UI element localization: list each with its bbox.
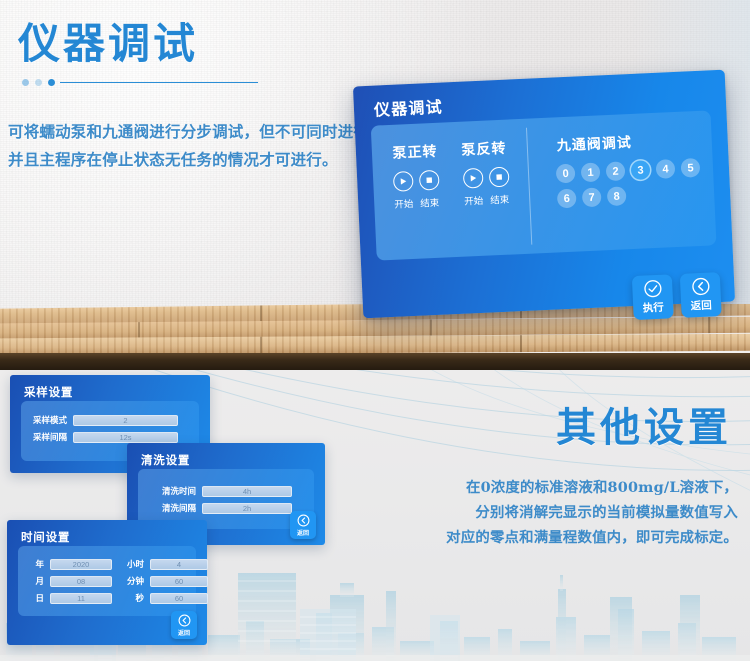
pump-reverse-stop-button[interactable] [488,167,509,188]
time-day-input[interactable]: 11 [50,593,112,604]
bottom-intro-text: 在0浓度的标准溶液和800mg/L溶液下， 分别将消解完显示的当前模拟量数值写入… [350,475,738,551]
cleaning-interval-input[interactable]: 2h [202,503,292,514]
time-hour-label: 小时 [120,558,144,570]
cleaning-duration-input[interactable]: 4h [202,486,292,497]
deco-dot-2 [35,79,42,86]
valve-button-3[interactable]: 3 [631,160,651,180]
pump-headers: 泵正转 泵反转 [371,119,528,164]
top-intro-line-1: 可将蠕动泵和九通阀进行分步调试，但不可同时进行， [8,118,388,146]
sampling-mode-input[interactable]: 2 [73,415,178,426]
pump-label-row: 开始 结束 开始 结束 [374,191,529,212]
form-row: 秒 60 [120,592,208,604]
top-intro-line-2: 并且主程序在停止状态无任务的情况才可进行。 [8,146,388,174]
bottom-intro-line-1: 在0浓度的标准溶液和800mg/L溶液下， [350,475,738,500]
cleaning-back-button[interactable]: 返回 [290,511,316,539]
valve-button-2[interactable]: 2 [606,161,626,181]
time-settings-body: 年 2020 月 08 日 11 [18,546,196,616]
return-button-label: 返回 [690,298,712,314]
time-settings-card: 时间设置 年 2020 月 08 日 11 [7,520,207,645]
pump-forward-start-button[interactable] [392,171,413,192]
form-row: 月 08 [28,575,112,587]
form-row: 日 11 [28,592,112,604]
pump-forward-label: 泵正转 [392,141,438,163]
pump-reverse-stop-label: 结束 [489,192,510,207]
time-fields-left: 年 2020 月 08 日 11 [28,558,112,609]
cleaning-duration-label: 清洗时间 [138,485,196,497]
time-second-label: 秒 [120,592,144,604]
time-back-button[interactable]: 返回 [171,611,197,639]
pump-forward-stop-button[interactable] [418,170,439,191]
device-card-tilt-wrapper: 仪器调试 泵正转 泵反转 [353,70,735,319]
bottom-intro-line-3: 对应的零点和满量程数值内，即可完成标定。 [350,525,738,550]
time-month-label: 月 [28,575,44,587]
play-icon [399,177,407,185]
form-row: 年 2020 [28,558,112,570]
time-day-label: 日 [28,592,44,604]
pump-reverse-start-button[interactable] [462,168,483,189]
back-circle-icon [297,514,310,527]
execute-button[interactable]: 执行 [632,274,674,320]
pump-control-section: 泵正转 泵反转 [371,119,532,261]
bottom-intro-line-2: 分别将消解完显示的当前模拟量数值写入 [350,500,738,525]
title-underline [22,79,258,86]
pump-reverse-buttons [462,167,509,189]
form-row: 清洗时间 4h [138,485,304,497]
other-settings-title: 其他设置 [556,395,732,453]
valve-button-grid: 0 1 2 3 4 5 6 7 8 [527,148,714,209]
pump-reverse-labels: 开始 结束 [463,192,510,208]
time-month-input[interactable]: 08 [50,576,112,587]
play-icon [469,174,477,182]
top-intro-text: 可将蠕动泵和九通阀进行分步调试，但不可同时进行， 并且主程序在停止状态无任务的情… [8,118,388,173]
valve-button-7[interactable]: 7 [582,187,602,207]
time-second-input[interactable]: 60 [150,593,208,604]
top-headline-block: 仪器调试 [18,20,258,86]
pump-reverse-start-label: 开始 [463,193,484,208]
pump-forward-stop-label: 结束 [419,195,440,210]
sampling-interval-input[interactable]: 12s [73,432,178,443]
time-year-input[interactable]: 2020 [50,559,112,570]
form-row: 清洗间隔 2h [138,502,304,514]
form-row: 采样模式 2 [21,414,181,426]
device-card-title: 仪器调试 [373,94,443,121]
pump-forward-buttons [392,170,439,192]
stop-icon [425,176,433,184]
time-year-label: 年 [28,558,44,570]
valve-button-4[interactable]: 4 [656,159,676,179]
stop-icon [495,173,503,181]
form-row: 分钟 60 [120,575,208,587]
check-circle-icon [642,279,662,299]
pump-button-row [373,166,529,193]
deco-dot-1 [22,79,29,86]
back-circle-icon [690,277,710,297]
pump-forward-labels: 开始 结束 [393,195,440,211]
form-row: 小时 4 [120,558,208,570]
cleaning-settings-title: 清洗设置 [141,452,190,468]
valve-button-5[interactable]: 5 [681,158,701,178]
sampling-mode-label: 采样模式 [21,414,67,426]
time-minute-input[interactable]: 60 [150,576,208,587]
sampling-interval-label: 采样间隔 [21,431,67,443]
return-button[interactable]: 返回 [680,272,722,318]
device-card-actions: 执行 返回 [632,272,722,320]
time-hour-input[interactable]: 4 [150,559,208,570]
time-settings-title: 时间设置 [21,529,70,545]
cleaning-interval-label: 清洗间隔 [138,502,196,514]
time-minute-label: 分钟 [120,575,144,587]
page-root: 仪器调试 可将蠕动泵和九通阀进行分步调试，但不可同时进行， 并且主程序在停止状态… [0,0,750,661]
valve-button-0[interactable]: 0 [556,164,576,184]
pump-reverse-label: 泵反转 [461,138,507,160]
table-edge-shadow [0,353,750,370]
sampling-settings-title: 采样设置 [24,384,73,400]
valve-button-1[interactable]: 1 [581,162,601,182]
valve-control-section: 九通阀调试 0 1 2 3 4 5 6 7 8 [526,110,717,253]
device-card-inner-panel: 泵正转 泵反转 [371,110,717,260]
title-rule-line [60,82,258,83]
back-circle-icon [178,614,191,627]
valve-button-8[interactable]: 8 [607,186,627,206]
form-row: 采样间隔 12s [21,431,181,443]
cleaning-back-label: 返回 [297,528,309,537]
device-debug-card: 仪器调试 泵正转 泵反转 [353,70,735,319]
time-fields-right: 小时 4 分钟 60 秒 60 [120,558,208,609]
pump-forward-start-label: 开始 [393,196,414,211]
execute-button-label: 执行 [642,300,664,316]
page-title: 仪器调试 [18,20,258,68]
time-back-label: 返回 [178,628,190,637]
deco-dot-3 [48,79,55,86]
valve-button-6[interactable]: 6 [557,189,577,209]
